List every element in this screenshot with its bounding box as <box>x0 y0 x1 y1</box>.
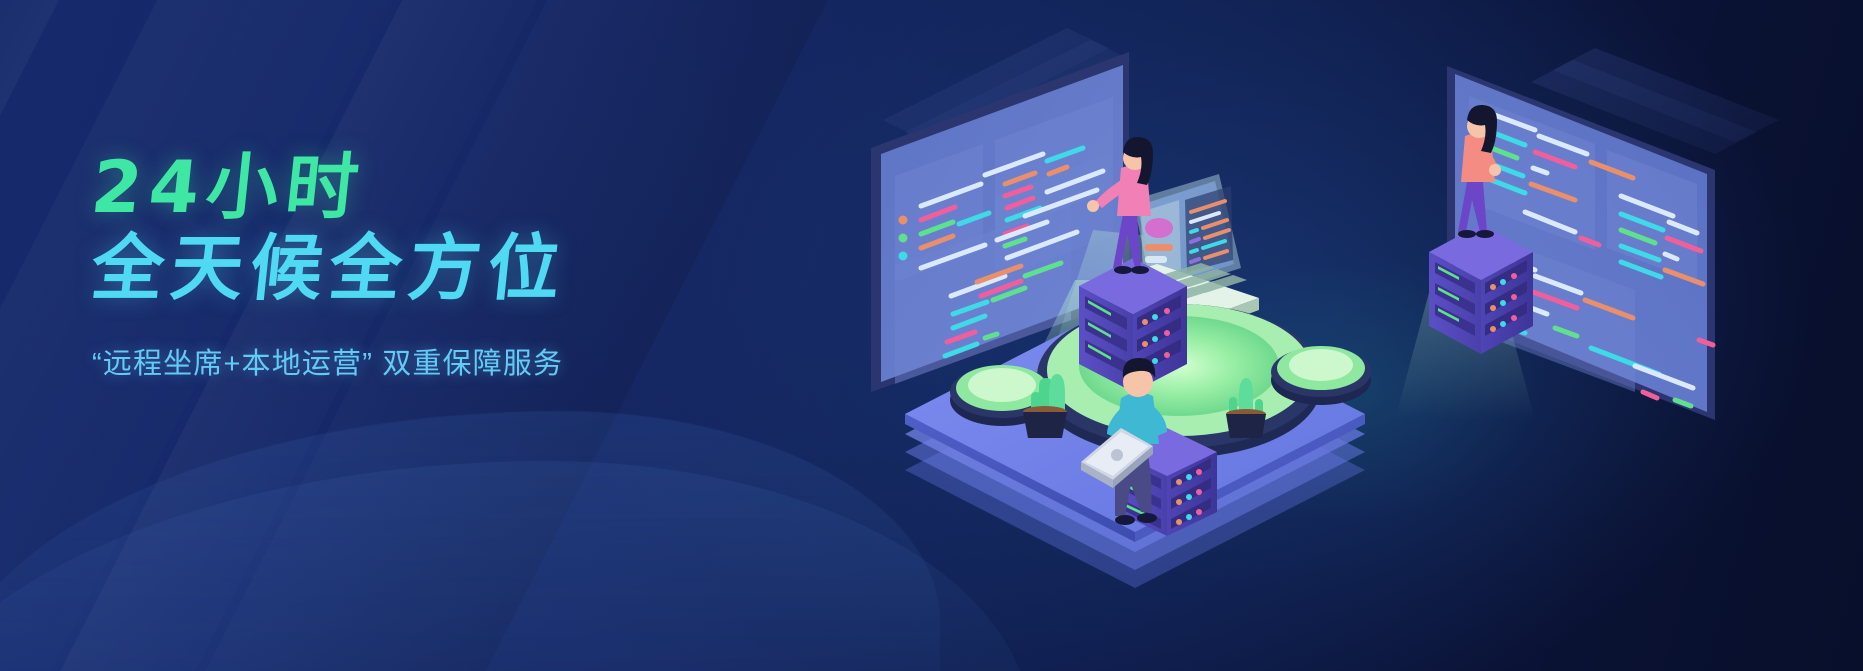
headline-block: 24小时 全天候全方位 “远程坐席+本地运营” 双重保障服务 <box>92 150 852 382</box>
headline-line-1: 24小时 <box>88 150 856 225</box>
glow-disc-right <box>1271 346 1371 405</box>
banner-root: 24小时 全天候全方位 “远程坐席+本地运营” 双重保障服务 <box>0 0 1863 671</box>
isometric-illustration <box>835 0 1863 671</box>
subtitle-text: “远程坐席+本地运营” 双重保障服务 <box>92 340 852 382</box>
headline-line-2: 全天候全方位 <box>88 231 856 306</box>
